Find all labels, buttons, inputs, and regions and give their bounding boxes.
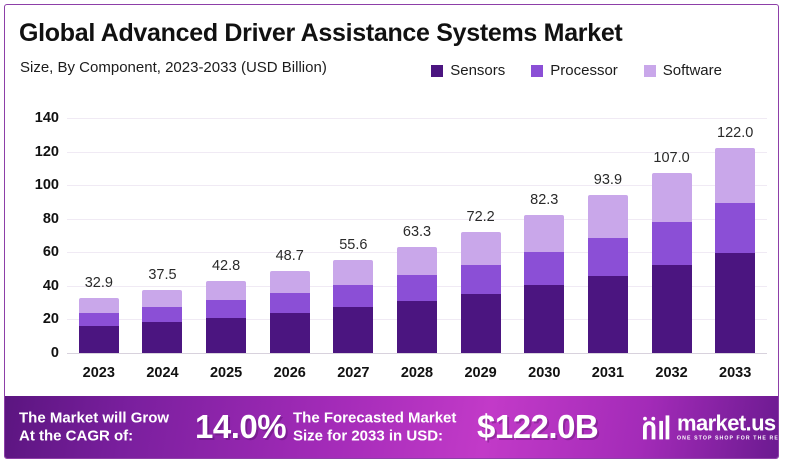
market-us-logo[interactable]: market.us ONE STOP SHOP FOR THE REPORTS [641,412,779,441]
bar-total-label-2026: 48.7 [276,248,304,264]
bar-segment-processor-2026[interactable] [270,293,310,313]
cagr-label-line1: The Market will Grow [19,409,169,427]
bar-segment-software-2025[interactable] [206,281,246,300]
bar-segment-sensors-2032[interactable] [652,265,692,353]
bar-segment-processor-2023[interactable] [79,313,119,326]
cagr-label-line2: At the CAGR of: [19,427,169,445]
bar-segment-processor-2028[interactable] [397,275,437,301]
bar-segment-software-2033[interactable] [715,148,755,203]
bar-segment-software-2032[interactable] [652,173,692,222]
bar-total-label-2033: 122.0 [717,125,753,141]
x-axis-tick-label-2030: 2030 [514,365,574,381]
bar-segment-software-2028[interactable] [397,247,437,276]
logo-name: market.us [677,412,779,434]
x-axis-baseline [67,353,767,354]
bar-segment-sensors-2029[interactable] [461,294,501,353]
bar-segment-software-2029[interactable] [461,232,501,265]
bar-segment-processor-2033[interactable] [715,203,755,252]
x-axis-tick-label-2028: 2028 [387,365,447,381]
logo-tagline: ONE STOP SHOP FOR THE REPORTS [677,436,779,441]
bar-column-2028[interactable]: 63.3 [397,118,437,353]
y-axis-tick-label: 120 [13,144,59,160]
bar-segment-sensors-2028[interactable] [397,301,437,353]
bar-segment-processor-2027[interactable] [333,285,373,307]
bar-segment-sensors-2030[interactable] [524,285,564,353]
bar-column-2031[interactable]: 93.9 [588,118,628,353]
bar-segment-processor-2029[interactable] [461,265,501,294]
bar-column-2032[interactable]: 107.0 [652,118,692,353]
y-axis-tick-label: 0 [13,345,59,361]
bar-column-2029[interactable]: 72.2 [461,118,501,353]
bar-segment-software-2031[interactable] [588,195,628,238]
x-axis-tick-label-2023: 2023 [69,365,129,381]
infographic-frame: Global Advanced Driver Assistance System… [4,4,779,459]
bar-total-label-2025: 42.8 [212,258,240,274]
bar-segment-processor-2024[interactable] [142,307,182,322]
market-us-logo-mark [641,414,671,440]
bar-total-label-2028: 63.3 [403,224,431,240]
forecast-value: $122.0B [477,408,598,446]
bar-segment-software-2027[interactable] [333,260,373,285]
y-axis-tick-label: 40 [13,278,59,294]
bar-column-2027[interactable]: 55.6 [333,118,373,353]
bar-segment-sensors-2031[interactable] [588,276,628,353]
bar-column-2030[interactable]: 82.3 [524,118,564,353]
cagr-value: 14.0% [195,408,286,446]
y-axis-tick-label: 140 [13,110,59,126]
y-axis-tick-label: 80 [13,211,59,227]
forecast-label-line2: Size for 2033 in USD: [293,427,456,445]
bar-column-2033[interactable]: 122.0 [715,118,755,353]
bar-segment-software-2024[interactable] [142,290,182,307]
x-axis-tick-label-2033: 2033 [705,365,765,381]
bar-total-label-2029: 72.2 [467,209,495,225]
bar-segment-sensors-2033[interactable] [715,253,755,353]
x-axis-tick-label-2025: 2025 [196,365,256,381]
x-axis-tick-label-2032: 2032 [642,365,702,381]
x-axis-tick-label-2029: 2029 [451,365,511,381]
bar-total-label-2031: 93.9 [594,172,622,188]
bar-total-label-2023: 32.9 [85,275,113,291]
bar-total-label-2027: 55.6 [339,237,367,253]
bar-segment-sensors-2024[interactable] [142,322,182,353]
bar-segment-software-2030[interactable] [524,215,564,252]
bar-segment-software-2023[interactable] [79,298,119,313]
bar-total-label-2032: 107.0 [653,150,689,166]
footer-banner: The Market will Grow At the CAGR of: 14.… [5,396,779,458]
y-axis-tick-label: 100 [13,177,59,193]
bar-segment-processor-2025[interactable] [206,300,246,317]
bar-column-2024[interactable]: 37.5 [142,118,182,353]
x-axis-tick-label-2031: 2031 [578,365,638,381]
bar-column-2023[interactable]: 32.9 [79,118,119,353]
bar-column-2025[interactable]: 42.8 [206,118,246,353]
bar-segment-sensors-2025[interactable] [206,318,246,353]
x-axis-tick-label-2027: 2027 [323,365,383,381]
y-axis-tick-label: 20 [13,311,59,327]
bar-segment-processor-2032[interactable] [652,222,692,265]
bar-total-label-2030: 82.3 [530,192,558,208]
bar-segment-processor-2031[interactable] [588,238,628,276]
x-axis-tick-label-2026: 2026 [260,365,320,381]
bar-segment-sensors-2023[interactable] [79,326,119,353]
bar-segment-sensors-2026[interactable] [270,313,310,353]
bar-total-label-2024: 37.5 [148,267,176,283]
bar-segment-processor-2030[interactable] [524,252,564,285]
bar-column-2026[interactable]: 48.7 [270,118,310,353]
forecast-label-line1: The Forecasted Market [293,409,456,427]
bar-segment-sensors-2027[interactable] [333,307,373,353]
bar-segment-software-2026[interactable] [270,271,310,293]
chart-plot-area: 02040608010012014032.9202337.5202442.820… [5,5,779,459]
x-axis-tick-label-2024: 2024 [132,365,192,381]
y-axis-tick-label: 60 [13,244,59,260]
